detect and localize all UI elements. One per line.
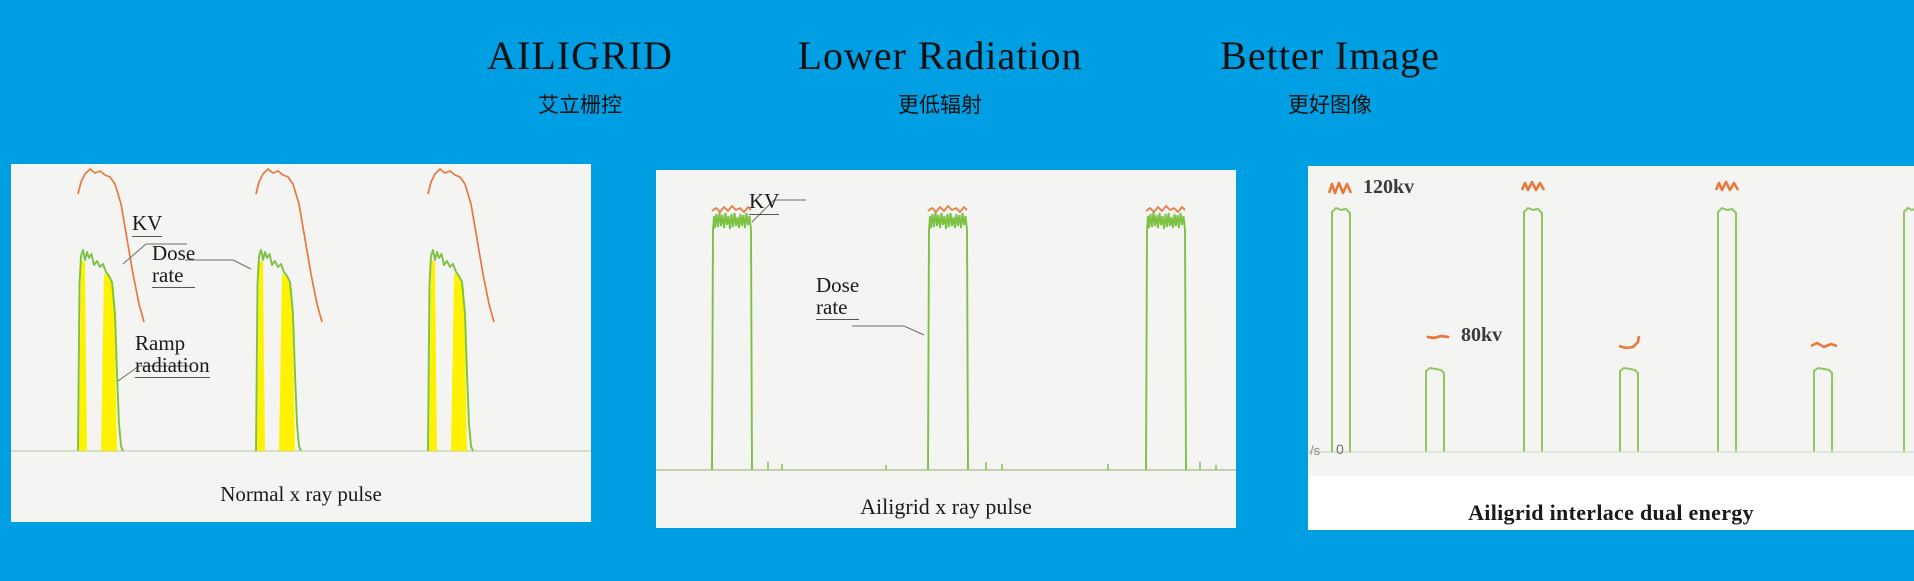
header-group-better-image: Better Image 更好图像 <box>1040 35 1620 119</box>
header-title-zh-2: 更好图像 <box>1040 89 1620 119</box>
legend-120kv: 120kv <box>1328 176 1414 199</box>
legend-80kv: 80kv <box>1426 324 1502 347</box>
kv-pulse-2 <box>928 206 967 212</box>
chart-normal-x-ray-pulse <box>11 164 591 522</box>
kv-marker-80kv-2 <box>1619 336 1639 348</box>
pulse-120kv-4 <box>1904 208 1914 452</box>
caption-ailigrid-interlace-dual-energy: Ailigrid interlace dual energy <box>1308 500 1914 526</box>
legend-120kv-label: 120kv <box>1363 176 1414 199</box>
page-header: AILIGRID 艾立栅控 Lower Radiation 更低辐射 Bette… <box>0 0 1914 160</box>
dose-rate-pulse-1 <box>712 212 752 470</box>
dose-rate-pulse-3 <box>1146 212 1186 470</box>
kv-pulse-3 <box>1146 206 1185 212</box>
leader-line-dose-rate <box>852 326 924 335</box>
pulse-120kv-2 <box>1524 208 1542 452</box>
caption-normal-x-ray-pulse: Normal x ray pulse <box>11 482 591 507</box>
panel-ailigrid-interlace-dual-energy: 120kv 80kv /s 0 <box>1308 166 1914 530</box>
pulse-80kv-3 <box>1814 368 1832 452</box>
header-title-en-2: Better Image <box>1040 35 1620 77</box>
kv-marker-80kv-3 <box>1811 343 1837 347</box>
kv-glyph-120-icon <box>1328 180 1354 196</box>
dose-rate-pulse-2 <box>928 212 968 470</box>
chart-dual-energy-svg <box>1308 166 1914 476</box>
chart-ailigrid-x-ray-pulse <box>656 170 1236 528</box>
annotation-kv-panel2: KV <box>749 170 779 215</box>
axis-unit-label: /s <box>1310 443 1320 458</box>
panel-ailigrid-x-ray-pulse: KV Dose rate <box>656 170 1236 528</box>
chart-normal-svg <box>11 164 591 522</box>
caption-ailigrid-x-ray-pulse: Ailigrid x ray pulse <box>656 494 1236 520</box>
panel-normal-x-ray-pulse: KV Dose rate Ramp radiation <box>11 164 591 522</box>
baseline-noise <box>768 462 1216 470</box>
kv-marker-120kv-3 <box>1716 182 1738 190</box>
annotation-ramp-radiation-panel1: Ramp radiation <box>135 312 210 378</box>
pulse-80kv-2 <box>1620 368 1638 452</box>
pulse-120kv-3 <box>1718 208 1736 452</box>
annotation-dose-rate-panel2: Dose rate <box>816 254 859 320</box>
pulse-120kv-1 <box>1332 208 1350 452</box>
annotation-dose-rate-panel1: Dose rate <box>152 222 195 288</box>
pulse-80kv-1 <box>1426 368 1444 452</box>
kv-pulse-1 <box>712 206 751 212</box>
legend-80kv-label: 80kv <box>1461 324 1502 347</box>
chart-ailigrid-dual-energy <box>1308 166 1914 476</box>
kv-marker-120kv-2 <box>1522 182 1544 190</box>
chart-ailigrid-svg <box>656 170 1236 528</box>
kv-glyph-80-icon <box>1426 328 1452 344</box>
axis-zero-label: 0 <box>1336 441 1344 457</box>
